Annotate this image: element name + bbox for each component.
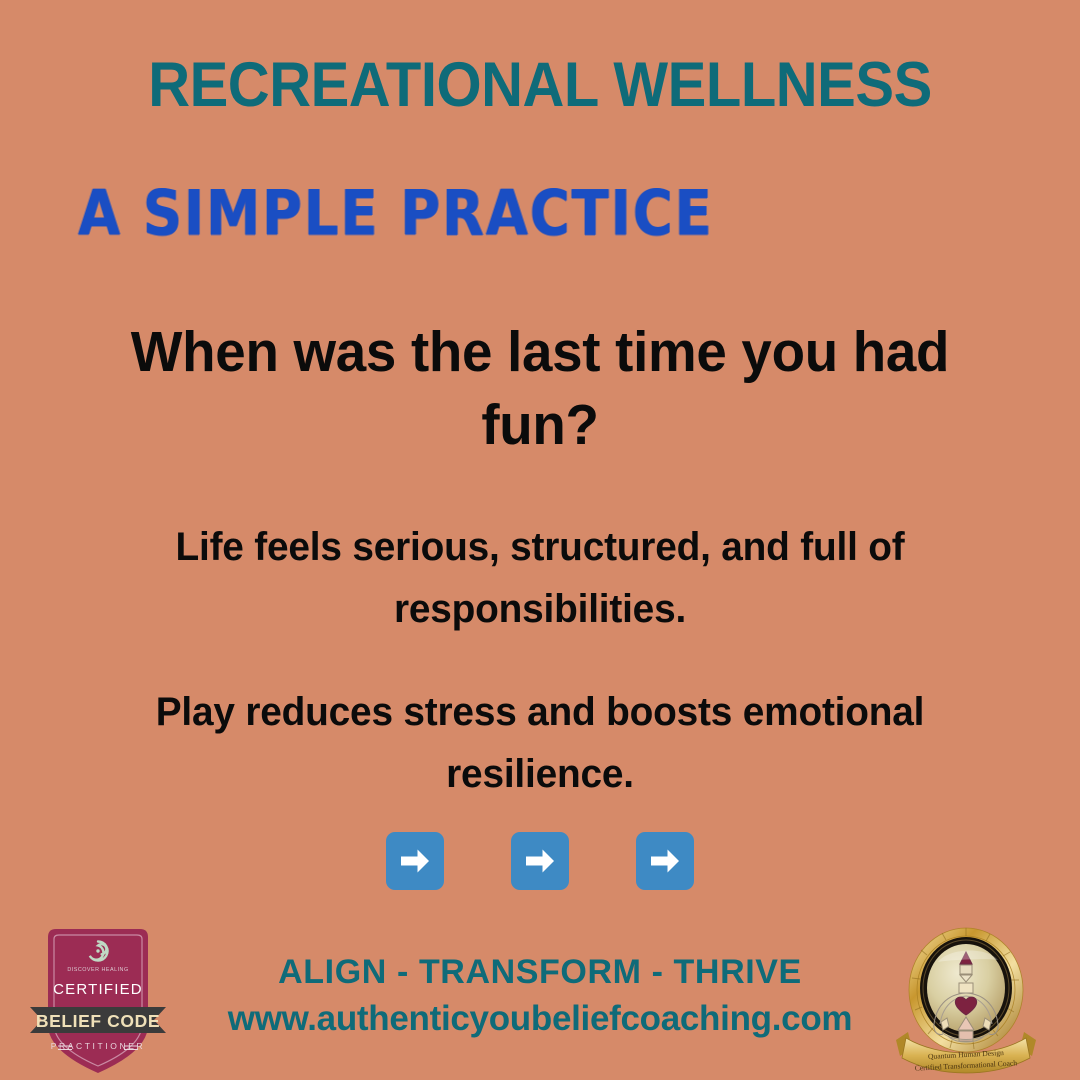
footer-tagline: ALIGN - TRANSFORM - THRIVE: [190, 952, 890, 992]
right-arrow-icon: [386, 832, 444, 890]
belief-code-badge: DISCOVER HEALING CERTIFIED BELIEF CODE P…: [28, 921, 168, 1080]
footer: ALIGN - TRANSFORM - THRIVE www.authentic…: [190, 952, 890, 1039]
page-title: RECREATIONAL WELLNESS: [43, 54, 1037, 117]
right-arrow-icon: [511, 832, 569, 890]
footer-website: www.authenticyoubeliefcoaching.com: [190, 998, 890, 1039]
subtitle: A SIMPLE PRACTICE: [78, 183, 714, 246]
svg-text:DISCOVER HEALING: DISCOVER HEALING: [67, 967, 128, 973]
main-question: When was the last time you had fun?: [127, 316, 953, 462]
svg-text:BELIEF CODE: BELIEF CODE: [36, 1011, 160, 1031]
right-arrow-icon: [636, 832, 694, 890]
quantum-human-design-medallion: Quantum Human Design Certified Transform…: [890, 918, 1042, 1080]
body-paragraph-2: Play reduces stress and boosts emotional…: [104, 681, 977, 805]
svg-text:CERTIFIED: CERTIFIED: [53, 981, 143, 998]
body-paragraph-1: Life feels serious, structured, and full…: [104, 516, 977, 640]
arrow-row: [0, 832, 1080, 890]
poster-canvas: RECREATIONAL WELLNESS A SIMPLE PRACTICE …: [0, 0, 1080, 1080]
